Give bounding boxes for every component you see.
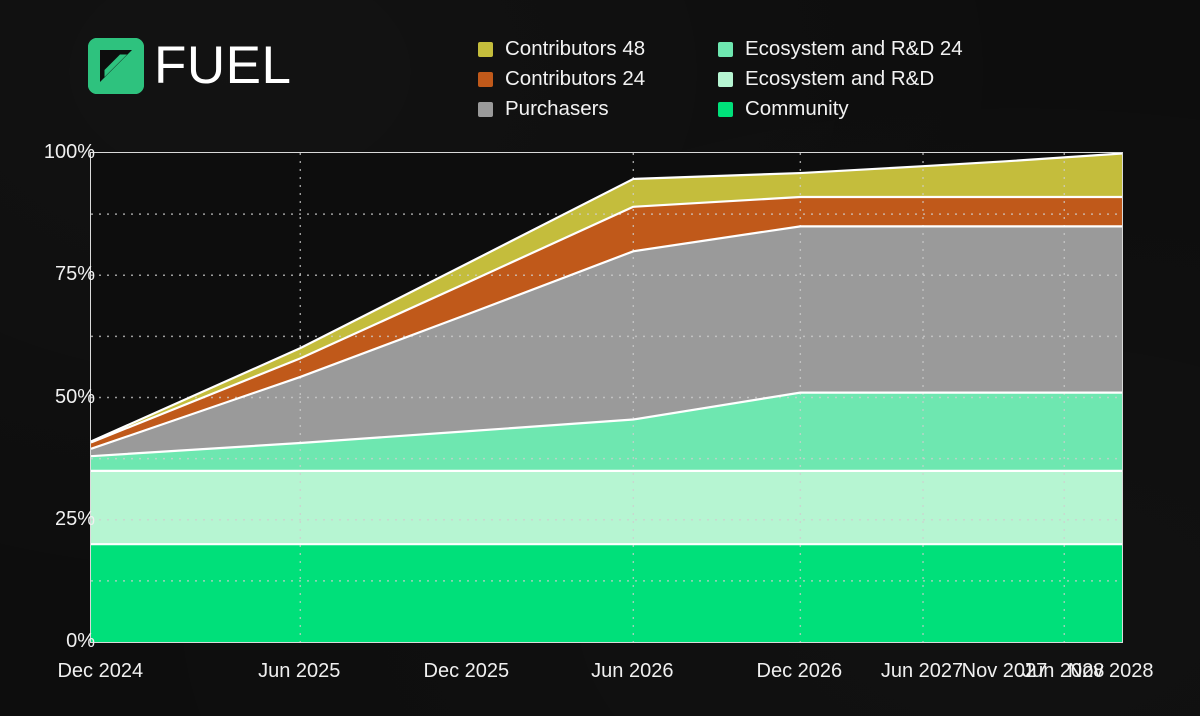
legend-item-ecosystem-rd-24[interactable]: Ecosystem and R&D 24 [718,36,963,62]
stacked-area-plot [91,153,1122,642]
y-axis-tick-label: 100% [0,142,95,162]
legend-item-contributors-48[interactable]: Contributors 48 [478,36,718,62]
area-band-ecosystem-and-r-d [91,471,1122,544]
y-axis-tick-label: 25% [0,509,95,529]
legend-swatch-icon [478,72,493,87]
fuel-logo-icon [88,38,144,94]
y-axis-tick-label: 0% [0,631,95,651]
brand-name: FUEL [154,39,291,92]
x-axis-tick-label: Jun 2026 [591,661,673,681]
legend-item-contributors-24[interactable]: Contributors 24 [478,66,718,92]
legend-swatch-icon [478,42,493,57]
x-axis-tick-label: Dec 2026 [757,661,843,681]
legend-label: Community [745,97,849,121]
plot-region [90,152,1123,643]
brand-logo: FUEL [88,38,291,94]
legend-label: Contributors 24 [505,67,645,91]
x-axis-tick-label: Nov 2028 [1068,661,1154,681]
legend-label: Purchasers [505,97,609,121]
legend-label: Contributors 48 [505,37,645,61]
legend-item-purchasers[interactable]: Purchasers [478,96,718,122]
legend-label: Ecosystem and R&D 24 [745,37,963,61]
legend-label: Ecosystem and R&D [745,67,934,91]
legend-swatch-icon [718,72,733,87]
x-axis-tick-label: Dec 2024 [57,661,143,681]
legend-item-ecosystem-rd[interactable]: Ecosystem and R&D [718,66,963,92]
x-axis-tick-label: Jun 2027 [881,661,963,681]
chart-page: FUEL Contributors 48 Ecosystem and R&D 2… [0,0,1200,716]
chart-legend: Contributors 48 Ecosystem and R&D 24 Con… [478,36,963,122]
chart-area: 0%25%50%75%100%Dec 2024Jun 2025Dec 2025J… [0,132,1200,716]
area-band-community [91,544,1122,642]
legend-swatch-icon [718,42,733,57]
y-axis-tick-label: 75% [0,264,95,284]
x-axis-tick-label: Dec 2025 [424,661,510,681]
legend-swatch-icon [718,102,733,117]
legend-swatch-icon [478,102,493,117]
x-axis-tick-label: Jun 2025 [258,661,340,681]
legend-item-community[interactable]: Community [718,96,963,122]
y-axis-tick-label: 50% [0,387,95,407]
page-header: FUEL Contributors 48 Ecosystem and R&D 2… [0,0,1200,132]
